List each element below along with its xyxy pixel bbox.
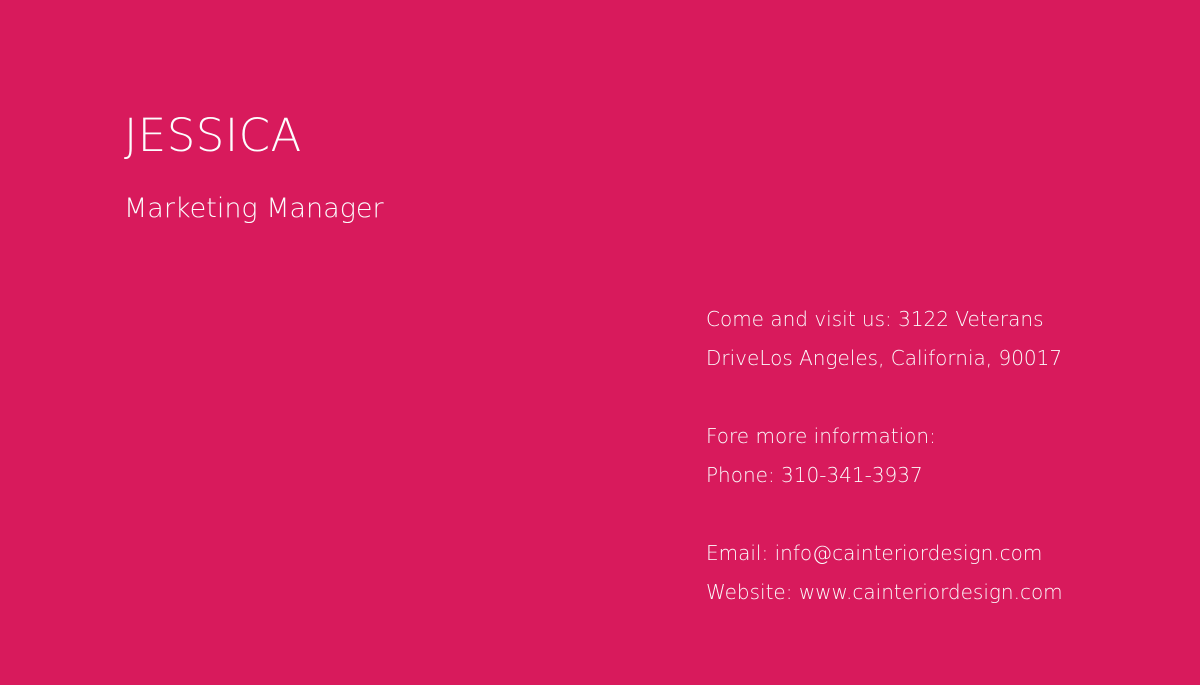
contact-group-phone: Fore more information: Phone: 310-341-39… — [706, 417, 1176, 495]
address-line-2: DriveLos Angeles, California, 90017 — [706, 339, 1176, 378]
contact-block: Come and visit us: 3122 Veterans DriveLo… — [706, 300, 1176, 612]
identity-block: JESSICA Marketing Manager — [124, 112, 644, 224]
contact-group-address: Come and visit us: 3122 Veterans DriveLo… — [706, 300, 1176, 378]
person-job-title: Marketing Manager — [124, 161, 644, 224]
phone-line[interactable]: Phone: 310-341-3937 — [706, 456, 1176, 495]
contact-group-online: Email: info@cainteriordesign.com Website… — [706, 534, 1176, 612]
email-line[interactable]: Email: info@cainteriordesign.com — [706, 534, 1176, 573]
more-information-label: Fore more information: — [706, 417, 1176, 456]
business-card: JESSICA Marketing Manager Come and visit… — [0, 0, 1200, 685]
address-line-1: Come and visit us: 3122 Veterans — [706, 300, 1176, 339]
person-name: JESSICA — [124, 112, 644, 161]
website-line[interactable]: Website: www.cainteriordesign.com — [706, 573, 1176, 612]
